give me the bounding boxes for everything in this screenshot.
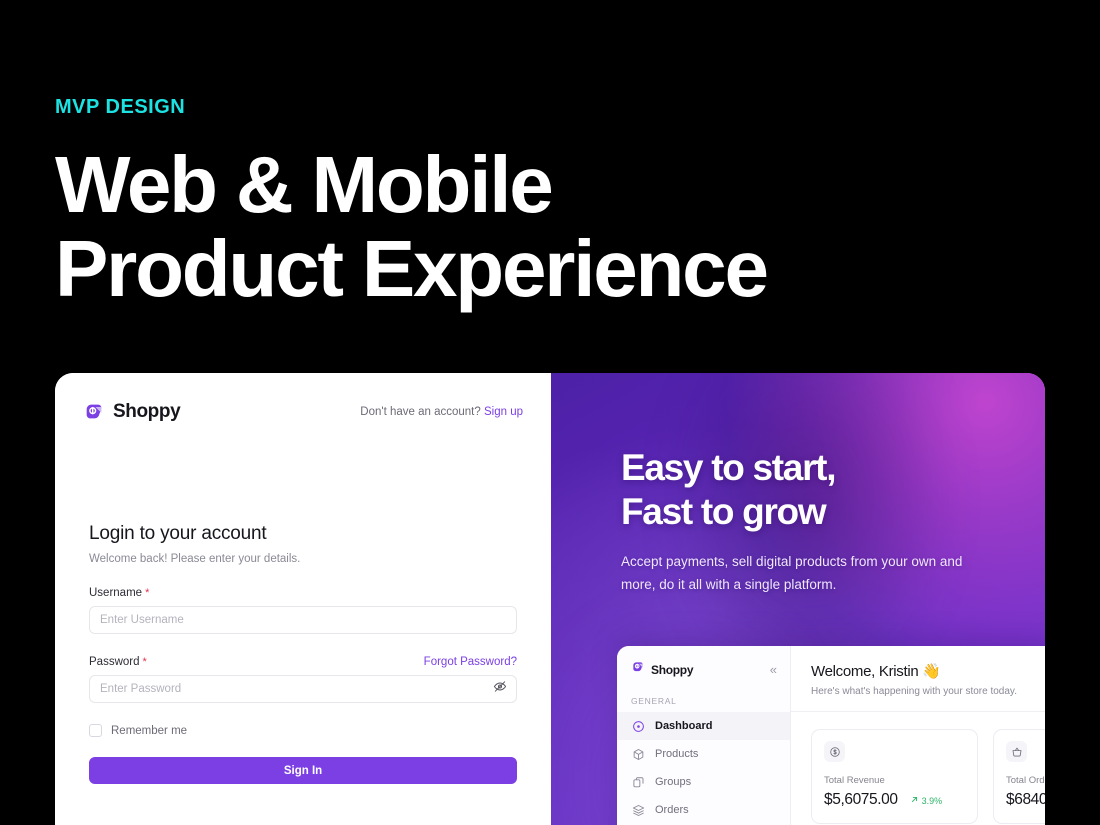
dashboard-brand: Shoppy: [631, 660, 693, 679]
stat-value: $5,6075.00: [824, 791, 898, 809]
stat-delta-value: 3.9%: [922, 796, 943, 806]
hero-title-line1: Web & Mobile: [55, 140, 552, 229]
signup-link[interactable]: Sign up: [484, 406, 523, 418]
dashboard-icon: [631, 719, 645, 733]
shoppy-tag-icon: [83, 401, 105, 423]
promo-heading-line2: Fast to grow: [621, 490, 991, 534]
stat-label: Total Orders: [1006, 775, 1045, 786]
password-required-marker: *: [143, 656, 147, 668]
login-panel: Shoppy Don't have an account? Sign up Lo…: [55, 373, 551, 825]
sidebar-item-label: Orders: [655, 804, 689, 816]
password-label-row: Password * Forgot Password?: [89, 656, 517, 668]
squares-icon: [631, 775, 645, 789]
cube-icon: [631, 747, 645, 761]
basket-icon: [1006, 741, 1027, 762]
username-label: Username *: [89, 587, 517, 599]
remember-me-checkbox[interactable]: [89, 724, 102, 737]
dashboard-brand-row: Shoppy «: [617, 660, 790, 679]
sidebar-item-label: Dashboard: [655, 720, 712, 732]
password-label-text: Password: [89, 656, 140, 668]
brand: Shoppy: [83, 401, 180, 423]
username-required-marker: *: [145, 587, 149, 599]
promo-panel: Easy to start, Fast to grow Accept payme…: [551, 373, 1045, 825]
sidebar-section-label: GENERAL: [617, 679, 790, 712]
signup-prompt-text: Don't have an account?: [360, 406, 480, 418]
username-placeholder: Enter Username: [100, 614, 184, 626]
chevron-double-left-icon[interactable]: «: [770, 663, 777, 676]
login-heading: Login to your account: [89, 523, 517, 545]
sidebar-item-groups[interactable]: Groups: [617, 768, 790, 796]
remember-me-label: Remember me: [111, 725, 187, 737]
promo-body: Accept payments, sell digital products f…: [621, 550, 991, 596]
dashboard-main: Welcome, Kristin 👋 Here's what's happeni…: [791, 646, 1045, 825]
dashboard-header: Welcome, Kristin 👋 Here's what's happeni…: [791, 662, 1045, 712]
sidebar-item-orders[interactable]: Orders: [617, 796, 790, 824]
promo-heading-line1: Easy to start,: [621, 446, 991, 490]
signup-prompt: Don't have an account? Sign up: [360, 406, 523, 418]
password-placeholder: Enter Password: [100, 683, 181, 695]
stat-card-orders: Total Orders $68400: [993, 729, 1045, 824]
page-root: MVP DESIGN Web & Mobile Product Experien…: [0, 0, 1100, 825]
sidebar-item-label: Groups: [655, 776, 691, 788]
stat-cards: Total Revenue $5,6075.00 3.9%: [791, 712, 1045, 824]
hero-title-line2: Product Experience: [55, 227, 767, 311]
layers-icon: [631, 803, 645, 817]
brand-name: Shoppy: [113, 401, 180, 423]
promo-heading: Easy to start, Fast to grow: [621, 446, 991, 534]
stat-value-row: $68400: [1006, 791, 1045, 809]
dashboard-preview: Shoppy « GENERAL Dashboard: [617, 646, 1045, 825]
hero-eyebrow: MVP DESIGN: [55, 96, 767, 119]
product-showcase-card: Shoppy Don't have an account? Sign up Lo…: [55, 373, 1045, 825]
stat-card-revenue: Total Revenue $5,6075.00 3.9%: [811, 729, 978, 824]
stat-value: $68400: [1006, 791, 1045, 809]
sidebar-item-dashboard[interactable]: Dashboard: [617, 712, 790, 740]
forgot-password-link[interactable]: Forgot Password?: [424, 656, 517, 668]
username-label-text: Username: [89, 587, 142, 599]
password-label: Password *: [89, 656, 147, 668]
sign-in-button[interactable]: Sign In: [89, 757, 517, 784]
promo-copy: Easy to start, Fast to grow Accept payme…: [621, 446, 991, 596]
login-topbar: Shoppy Don't have an account? Sign up: [55, 373, 551, 423]
stat-delta: 3.9%: [910, 795, 943, 806]
login-form: Login to your account Welcome back! Plea…: [55, 523, 551, 784]
welcome-title: Welcome, Kristin 👋: [811, 662, 1033, 680]
arrow-up-right-icon: [910, 795, 919, 806]
dollar-coin-icon: [824, 741, 845, 762]
stat-value-row: $5,6075.00 3.9%: [824, 791, 965, 809]
dashboard-sidebar: Shoppy « GENERAL Dashboard: [617, 646, 791, 825]
login-subheading: Welcome back! Please enter your details.: [89, 553, 517, 565]
welcome-subtitle: Here's what's happening with your store …: [811, 686, 1033, 697]
dashboard-brand-name: Shoppy: [651, 663, 693, 677]
sidebar-item-label: Products: [655, 748, 698, 760]
password-input[interactable]: Enter Password: [89, 675, 517, 703]
remember-me-row[interactable]: Remember me: [89, 724, 517, 737]
page-title: Web & Mobile Product Experience: [55, 143, 767, 311]
sidebar-item-products[interactable]: Products: [617, 740, 790, 768]
username-input[interactable]: Enter Username: [89, 606, 517, 634]
shoppy-tag-icon: [631, 660, 645, 679]
stat-label: Total Revenue: [824, 775, 965, 786]
eye-off-icon[interactable]: [493, 680, 507, 699]
hero-section: MVP DESIGN Web & Mobile Product Experien…: [55, 96, 767, 311]
